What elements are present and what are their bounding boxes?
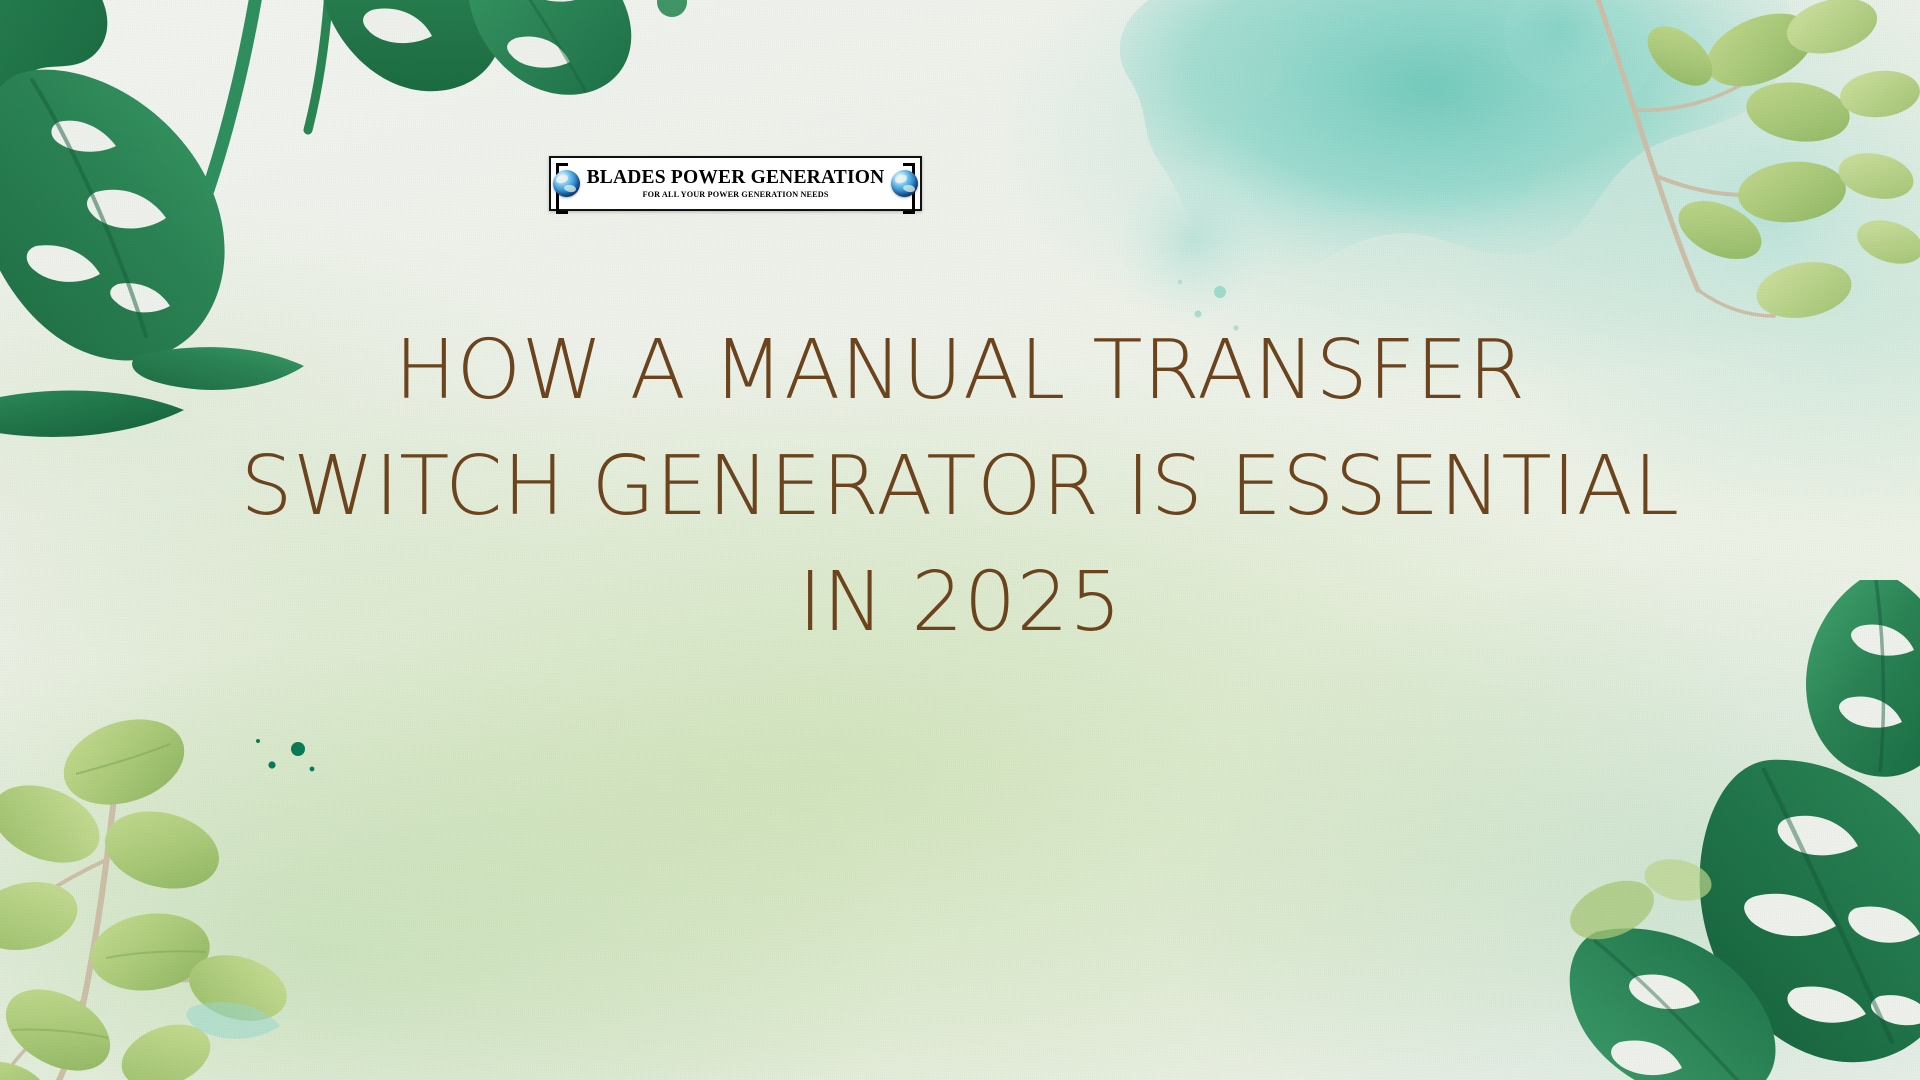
title-slide: BLADES POWER GENERATION FOR ALL YOUR POW… (0, 0, 1920, 1080)
logo-tagline: FOR ALL YOUR POWER GENERATION NEEDS (642, 191, 828, 199)
globe-icon (553, 170, 580, 197)
watercolor-blob-top-right (980, 0, 1920, 360)
logo-inner: BLADES POWER GENERATION FOR ALL YOUR POW… (551, 158, 920, 209)
headline-line-1: HOW A MANUAL TRANSFER (0, 313, 1920, 429)
eucalyptus-sprig-top-right (1560, 0, 1920, 340)
logo-title: BLADES POWER GENERATION (587, 168, 885, 188)
eucalyptus-sprig-bottom-left (0, 700, 500, 1080)
paint-splatter-dots (220, 725, 340, 815)
headline-line-2: SWITCH GENERATOR IS ESSENTIAL (0, 429, 1920, 545)
company-logo[interactable]: BLADES POWER GENERATION FOR ALL YOUR POW… (549, 156, 922, 211)
slide-headline: HOW A MANUAL TRANSFER SWITCH GENERATOR I… (0, 313, 1920, 661)
logo-text-block: BLADES POWER GENERATION FOR ALL YOUR POW… (587, 168, 885, 200)
headline-line-3: IN 2025 (0, 545, 1920, 661)
